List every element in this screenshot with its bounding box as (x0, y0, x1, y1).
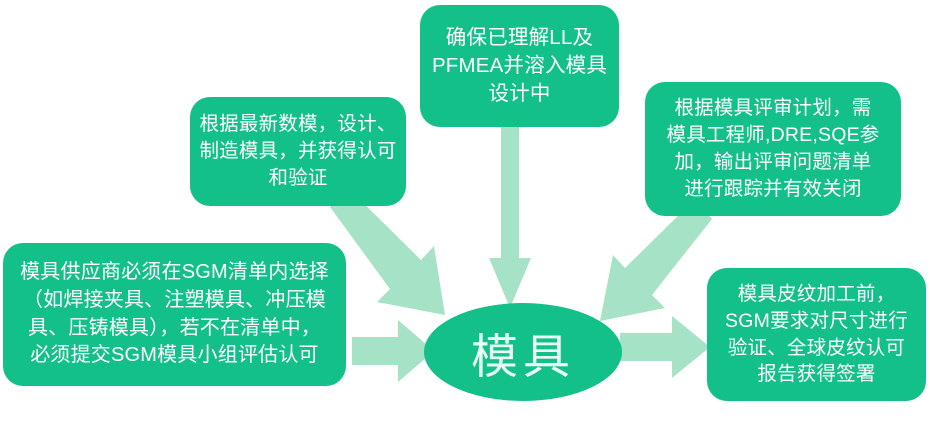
node-box-top[interactable]: 确保已理解LL及 PFMEA并溶入模具 设计中 (420, 5, 619, 127)
node-box-upper-right-label: 根据模具评审计划，需 模具工程师,DRE,SQE参 加，输出评审问题清单 进行跟… (659, 95, 888, 203)
arrow-top-to-center (489, 126, 531, 308)
node-box-left-label: 模具供应商必须在SGM清单内选择 （如焊接夹具、注塑模具、冲压模 具、压铸模具）… (12, 259, 337, 369)
arrow-upper-left-to-center (330, 188, 458, 318)
center-node[interactable]: 模具 (424, 303, 622, 401)
node-box-right[interactable]: 模具皮纹加工前， SGM要求对尺寸进行 验证、全球皮纹认可 报告获得签署 (707, 268, 926, 401)
node-box-upper-left[interactable]: 根据最新数模，设计、 制造模具，并获得认可 和验证 (190, 97, 406, 206)
diagram-canvas: 确保已理解LL及 PFMEA并溶入模具 设计中 根据最新数模，设计、 制造模具，… (0, 0, 936, 422)
node-box-top-label: 确保已理解LL及 PFMEA并溶入模具 设计中 (424, 24, 615, 109)
arrow-upper-right-to-center (592, 200, 712, 324)
node-box-left[interactable]: 模具供应商必须在SGM清单内选择 （如焊接夹具、注塑模具、冲压模 具、压铸模具）… (3, 243, 346, 386)
node-box-upper-right[interactable]: 根据模具评审计划，需 模具工程师,DRE,SQE参 加，输出评审问题清单 进行跟… (645, 82, 901, 216)
arrow-left-to-center (352, 320, 434, 382)
node-box-upper-left-label: 根据最新数模，设计、 制造模具，并获得认可 和验证 (191, 111, 404, 192)
center-node-label: 模具 (471, 318, 575, 387)
node-box-right-label: 模具皮纹加工前， SGM要求对尺寸进行 验证、全球皮纹认可 报告获得签署 (717, 281, 916, 389)
arrow-center-to-right (620, 316, 710, 378)
